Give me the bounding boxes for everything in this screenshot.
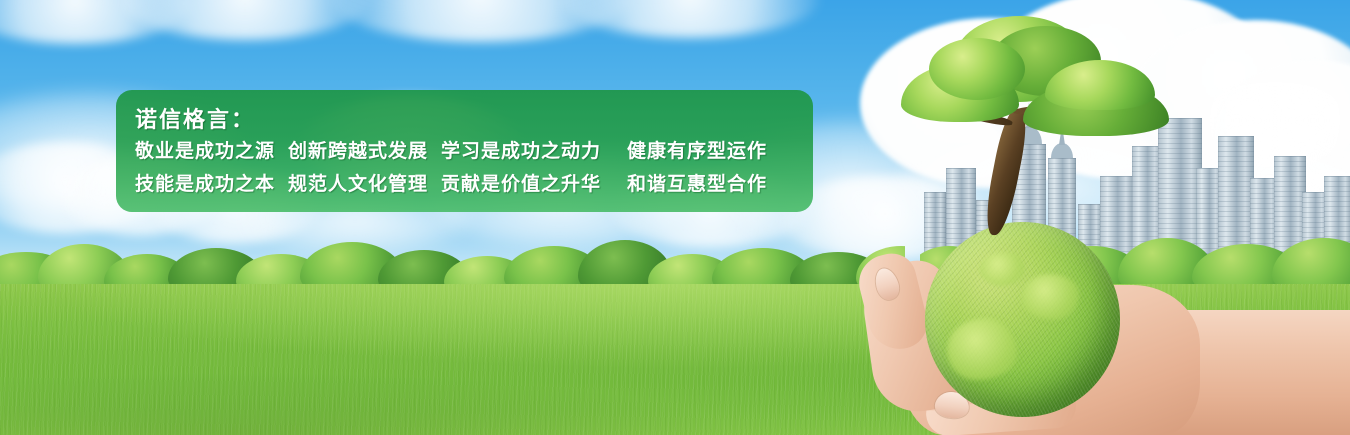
globe-grass-texture [925, 222, 1120, 417]
motto-item: 创新跨越式发展 [288, 141, 428, 162]
motto-title: 诺信格言： [135, 105, 813, 135]
motto-item: 规范人文化管理 [288, 174, 428, 195]
motto-item: 学习是成功之动力 [441, 141, 601, 162]
motto-line-2: 技能是成功之本规范人文化管理贡献是价值之升华和谐互惠型合作 [135, 168, 813, 201]
grass-globe [925, 222, 1120, 417]
motto-line-1: 敬业是成功之源创新跨越式发展学习是成功之动力健康有序型运作 [135, 135, 813, 168]
motto-item: 和谐互惠型合作 [627, 174, 767, 195]
tree-canopy [929, 38, 1025, 100]
globe-continent [979, 252, 1025, 286]
motto-item: 敬业是成功之源 [135, 141, 275, 162]
globe-continent [1021, 274, 1079, 320]
tree-trunk [981, 108, 1031, 237]
motto-panel: 诺信格言： 敬业是成功之源创新跨越式发展学习是成功之动力健康有序型运作 技能是成… [116, 90, 813, 212]
motto-item: 贡献是价值之升华 [441, 174, 601, 195]
hands-holding-globe [840, 200, 1350, 435]
bonsai-tree [895, 20, 1175, 230]
eco-hero-banner: 诺信格言： 敬业是成功之源创新跨越式发展学习是成功之动力健康有序型运作 技能是成… [0, 0, 1350, 435]
motto-item: 健康有序型运作 [627, 141, 767, 162]
globe-continent [947, 318, 1017, 380]
motto-item: 技能是成功之本 [135, 174, 275, 195]
